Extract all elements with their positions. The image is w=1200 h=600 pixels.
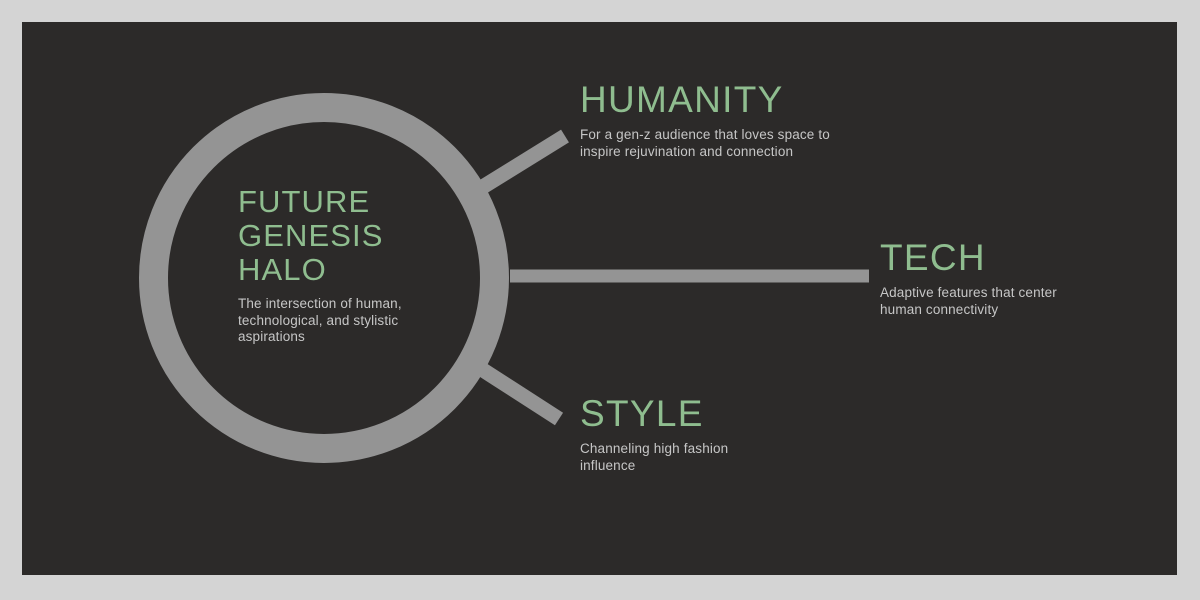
connector-line-humanity: [481, 136, 565, 188]
connector-line-style: [483, 370, 559, 419]
hub-title: FUTURE GENESIS HALO: [238, 185, 448, 287]
spoke-style: STYLE Channeling high fashion influence: [580, 394, 728, 474]
spoke-title-tech: TECH: [880, 238, 1057, 278]
hub-label-group: FUTURE GENESIS HALO The intersection of …: [238, 185, 448, 346]
spoke-subtitle-tech: Adaptive features that center human conn…: [880, 284, 1057, 318]
spoke-title-style: STYLE: [580, 394, 728, 434]
diagram-canvas: FUTURE GENESIS HALO The intersection of …: [0, 0, 1200, 600]
spoke-tech: TECH Adaptive features that center human…: [880, 238, 1057, 318]
hub-subtitle: The intersection of human, technological…: [238, 296, 413, 346]
spoke-subtitle-style: Channeling high fashion influence: [580, 440, 728, 474]
spoke-subtitle-humanity: For a gen-z audience that loves space to…: [580, 126, 830, 160]
spoke-title-humanity: HUMANITY: [580, 80, 830, 120]
spoke-humanity: HUMANITY For a gen-z audience that loves…: [580, 80, 830, 160]
